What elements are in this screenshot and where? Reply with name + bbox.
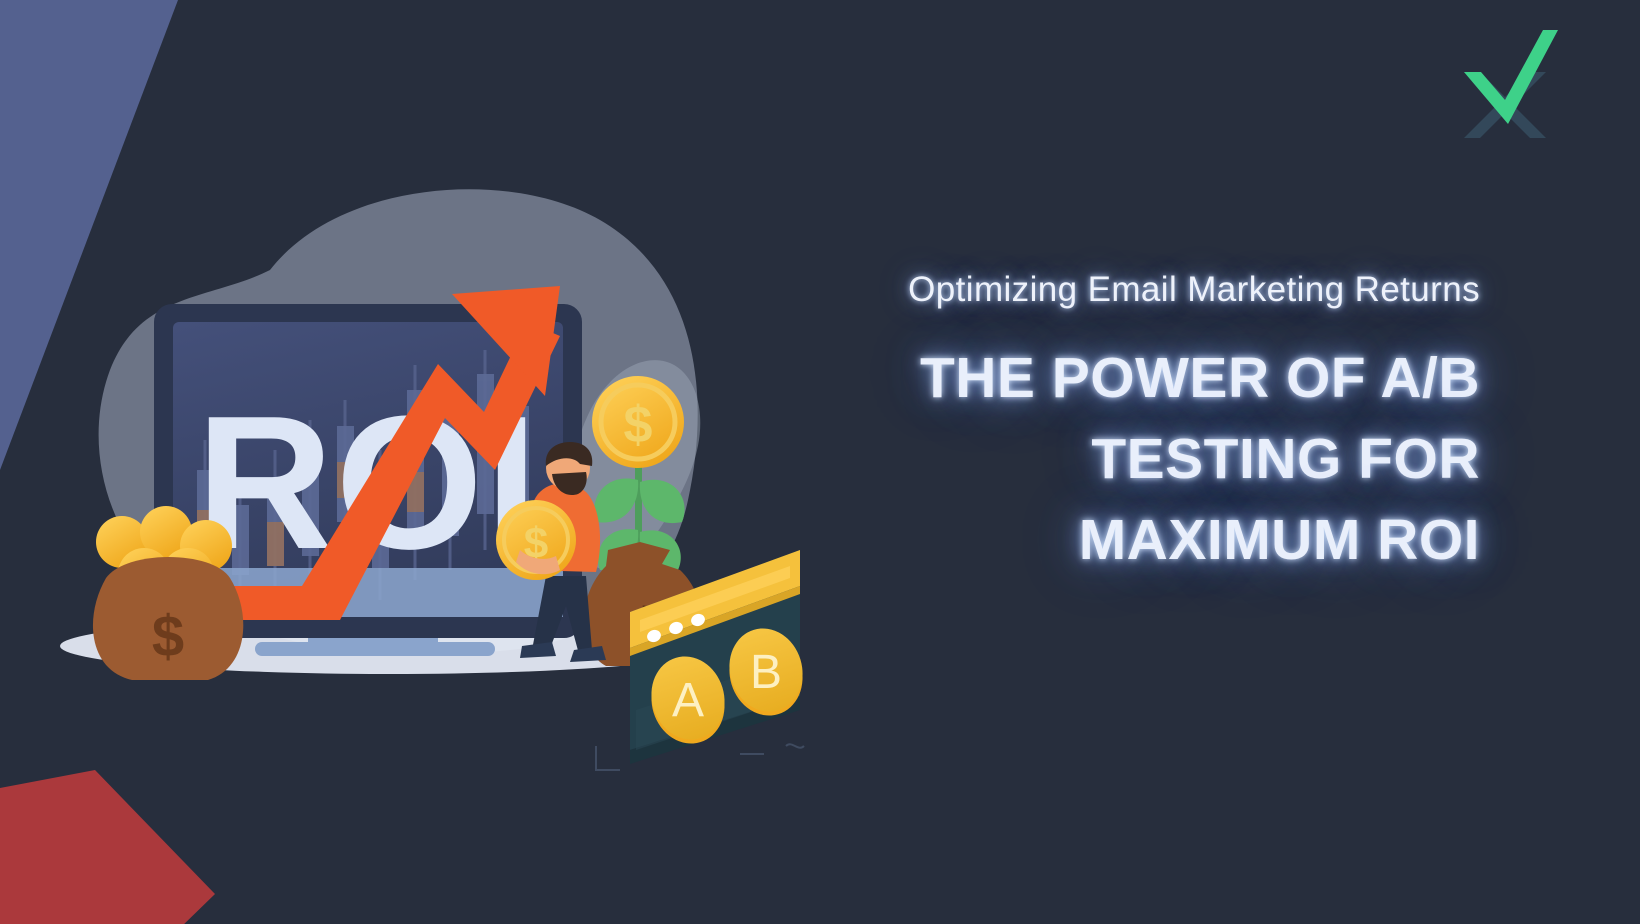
- bottom-left-diamond: [0, 770, 215, 924]
- headline-line-2: TESTING FOR: [760, 419, 1480, 500]
- money-bag: $ $ $: [93, 506, 243, 680]
- eyebrow-text: Optimizing Email Marketing Returns: [760, 268, 1480, 312]
- checkmark-x-logo: [1450, 28, 1558, 138]
- roi-ab-testing-illustration: ROI $ $ $: [40, 150, 830, 790]
- headline-line-3: MAXIMUM ROI: [760, 500, 1480, 581]
- decor-lines: [596, 744, 804, 770]
- page-title: THE POWER OF A/B TESTING FOR MAXIMUM ROI: [760, 338, 1480, 581]
- headline-line-1: THE POWER OF A/B: [760, 338, 1480, 419]
- check-icon: [1464, 30, 1558, 124]
- variant-b-label: B: [750, 646, 782, 699]
- variant-a-label: A: [672, 674, 704, 727]
- svg-text:$: $: [624, 396, 653, 454]
- poster-canvas: ROI $ $ $: [0, 0, 1640, 924]
- headline-block: Optimizing Email Marketing Returns THE P…: [760, 268, 1480, 581]
- money-bag-symbol: $: [152, 604, 184, 669]
